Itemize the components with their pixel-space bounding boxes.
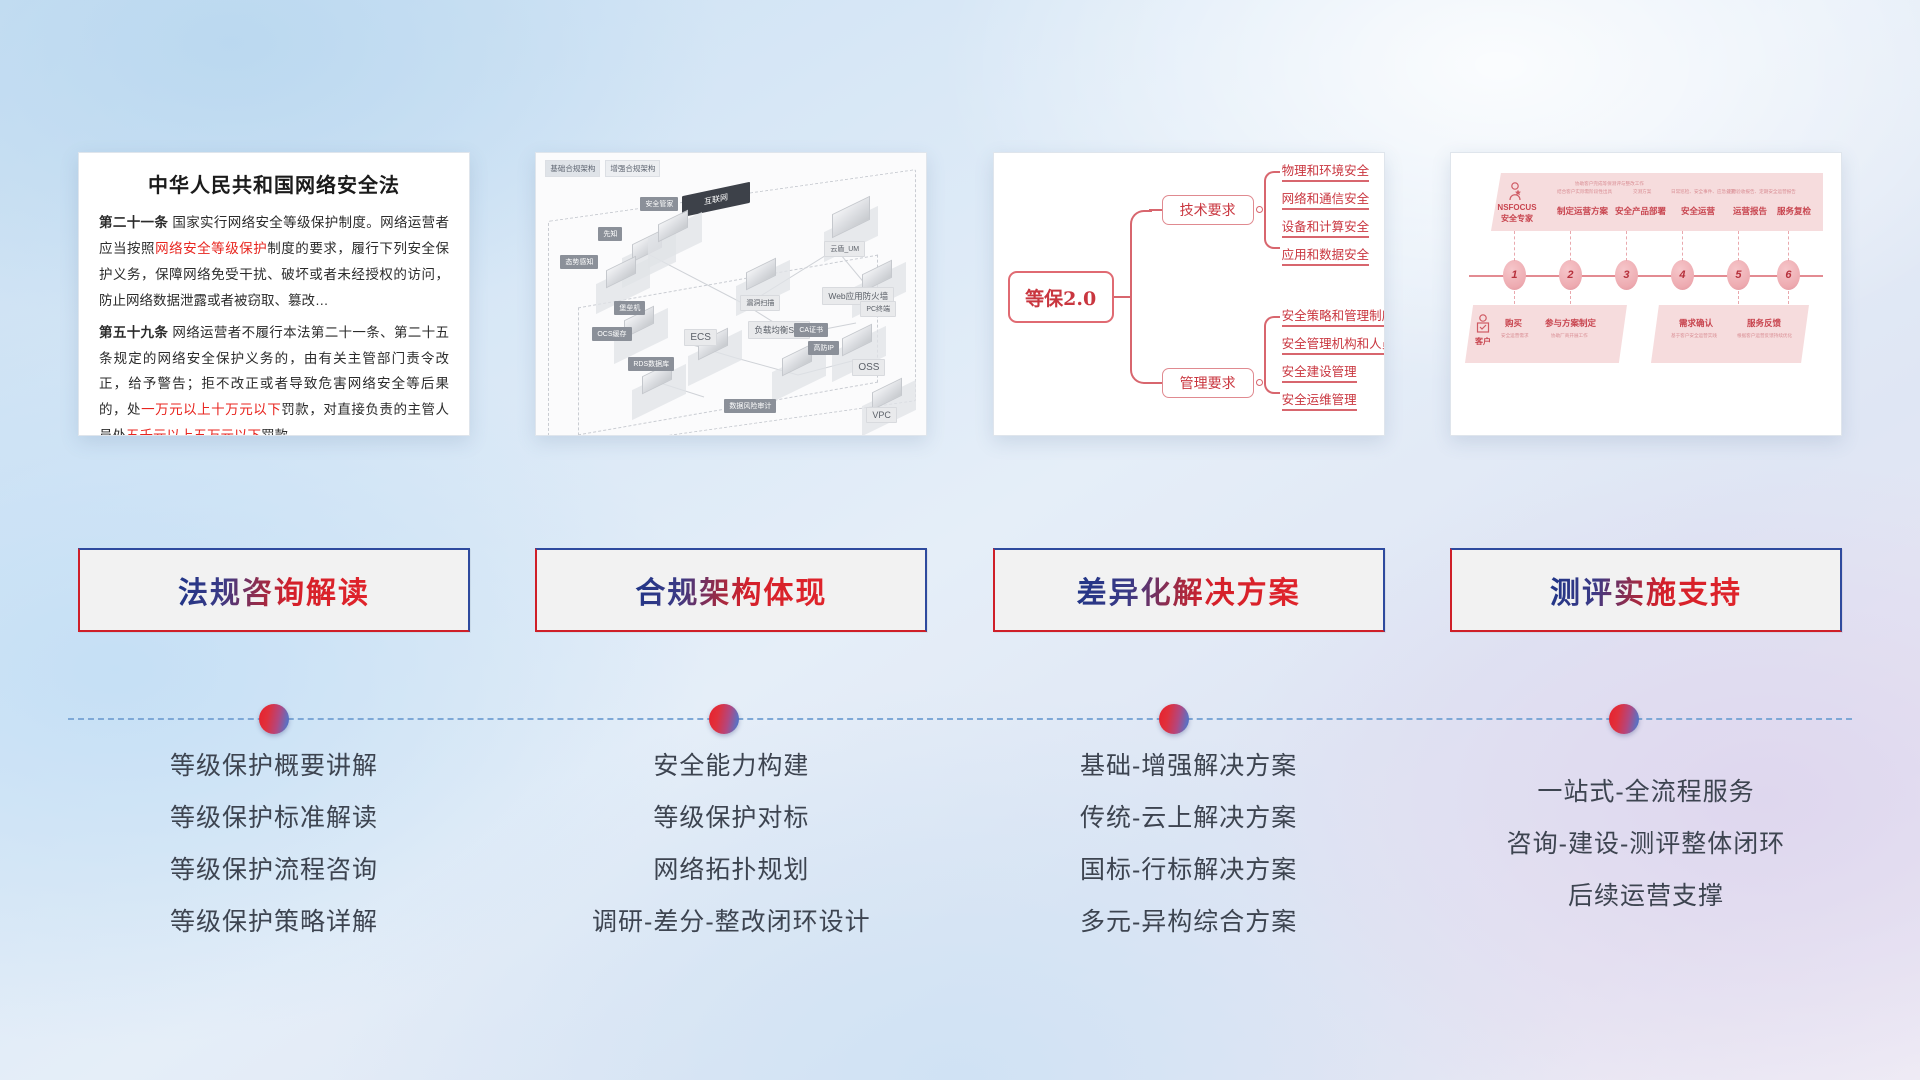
nsfocus-tick-4 xyxy=(1682,231,1683,261)
mindmap-leaf-build: 安全建设管理 xyxy=(1282,366,1357,383)
title-text-compliance-architecture: 合规架构体现 xyxy=(635,568,827,612)
nsfocus-step-5[interactable]: 5 xyxy=(1727,260,1750,290)
architecture-node-audit: 数据风险审计 xyxy=(724,399,776,413)
architecture-node-oss: OSS xyxy=(852,359,885,376)
nsfocus-bottom-label-right-2: 服务反馈 xyxy=(1747,317,1781,329)
list-item: 咨询-建设-测评整体闭环 xyxy=(1450,818,1842,870)
slide-canvas: 中华人民共和国网络安全法 第二十一条 国家实行网络安全等级保护制度。网络运营者应… xyxy=(0,0,1920,1080)
list-item: 传统-云上解决方案 xyxy=(993,792,1385,844)
mindmap-branch-management-curve xyxy=(1264,316,1280,394)
architecture-node-vuln-scan: 漏洞扫描 xyxy=(740,295,780,311)
nsfocus-tick-1 xyxy=(1514,231,1515,261)
nsfocus-brand-sub: 安全专家 xyxy=(1501,214,1533,223)
list-item: 国标-行标解决方案 xyxy=(993,844,1385,896)
timeline-dashed-line xyxy=(68,718,1852,720)
nsfocus-bottom-small-right-2: 根据客户运营反馈持续优化 xyxy=(1737,333,1792,339)
timeline-bead-1[interactable] xyxy=(259,704,289,734)
mindmap-leaf-policy: 安全策略和管理制度 xyxy=(1282,310,1385,327)
nsfocus-top-small-2: 交测方案 xyxy=(1633,189,1651,195)
card-compliance-architecture[interactable]: 基础合规架构 增强合规架构 xyxy=(535,152,927,436)
architecture-node-xianzhi: 先知 xyxy=(598,227,622,241)
architecture-node-security-butler: 安全管家 xyxy=(640,197,678,211)
list-item: 等级保护策略详解 xyxy=(78,896,470,948)
nsfocus-bottom-label-left-2: 参与方案制定 xyxy=(1545,317,1596,329)
architecture-node-yundun-um: 云盾_UM xyxy=(824,241,865,257)
title-box-compliance-architecture[interactable]: 合规架构体现 xyxy=(535,548,927,632)
list-item: 多元-异构综合方案 xyxy=(993,896,1385,948)
expert-person-icon xyxy=(1507,181,1523,201)
nsfocus-tick-2 xyxy=(1570,231,1571,261)
timeline-bead-2[interactable] xyxy=(709,704,739,734)
list-item: 等级保护对标 xyxy=(535,792,927,844)
customer-person-icon xyxy=(1475,313,1491,333)
mindmap-branch-management: 管理要求 xyxy=(1162,368,1254,398)
nsfocus-top-small-3: 日常巡检、安全事件、应急处置 xyxy=(1671,189,1735,195)
title-text-differentiated-solution: 差异化解决方案 xyxy=(1077,568,1301,612)
list-column-regulation-consulting: 等级保护概要讲解 等级保护标准解读 等级保护流程咨询 等级保护策略详解 xyxy=(78,740,470,990)
architecture-node-ca: CA证书 xyxy=(794,323,828,337)
list-item: 基础-增强解决方案 xyxy=(993,740,1385,792)
list-item: 等级保护标准解读 xyxy=(78,792,470,844)
nsfocus-canvas: NSFOCUS 安全专家 结合客户实际需阶段性出具 交测方案 日常巡检、安全事件… xyxy=(1465,165,1827,423)
list-item: 安全能力构建 xyxy=(535,740,927,792)
title-box-differentiated-solution[interactable]: 差异化解决方案 xyxy=(993,548,1385,632)
card-mindmap-dengbao[interactable]: 等保2.0 技术要求 物理和环境安全 网络和通信安全 设备和计算安全 应用和数据… xyxy=(993,152,1385,436)
nsfocus-step-3[interactable]: 3 xyxy=(1615,260,1638,290)
nsfocus-top-small-4: 交付验收报告、定期安全运营报告 xyxy=(1727,189,1796,195)
mindmap-trunk-curve xyxy=(1130,210,1152,384)
mindmap-branch-technical: 技术要求 xyxy=(1162,195,1254,225)
list-item: 调研-差分-整改闭环设计 xyxy=(535,896,927,948)
card-cybersecurity-law[interactable]: 中华人民共和国网络安全法 第二十一条 国家实行网络安全等级保护制度。网络运营者应… xyxy=(78,152,470,436)
nsfocus-bottom-small-right-1: 基于客户安全运营实践 xyxy=(1671,333,1717,339)
law-article-21-highlight: 网络安全等级保护 xyxy=(155,241,267,256)
law-article-59-highlight-1: 一万元以上十万元以下 xyxy=(141,402,281,417)
list-column-evaluation-support: 一站式-全流程服务 咨询-建设-测评整体闭环 后续运营支撑 xyxy=(1450,740,1842,990)
nsfocus-top-small-5: 协助客户完成等保测评与整改工作 xyxy=(1575,181,1644,187)
title-box-regulation-consulting[interactable]: 法规咨询解读 xyxy=(78,548,470,632)
mindmap-trunk-h xyxy=(1114,296,1130,298)
nsfocus-top-label-1: 制定运营方案 xyxy=(1557,205,1608,217)
nsfocus-bottom-label-right-1: 需求确认 xyxy=(1679,317,1713,329)
architecture-node-vpc: VPC xyxy=(866,407,897,423)
nsfocus-bottom-small-left-1: 安全运营需求 xyxy=(1501,333,1529,339)
mindmap-leaf-device: 设备和计算安全 xyxy=(1282,221,1370,238)
architecture-canvas: 互联网 xyxy=(536,153,926,435)
law-article-59-highlight-2: 五千元以上五万元以下 xyxy=(126,428,261,436)
nsfocus-tick-5 xyxy=(1738,231,1739,261)
nsfocus-top-label-4: 运营报告 xyxy=(1733,205,1767,217)
nsfocus-tick-6 xyxy=(1788,231,1789,261)
nsfocus-top-label-2: 安全产品部署 xyxy=(1615,205,1666,217)
nsfocus-tick-3 xyxy=(1626,231,1627,261)
mindmap-branch-technical-dot xyxy=(1256,206,1263,213)
timeline-bead-4[interactable] xyxy=(1609,704,1639,734)
law-article-21-label: 第二十一条 xyxy=(99,215,168,230)
law-title: 中华人民共和国网络安全法 xyxy=(99,169,449,198)
title-text-regulation-consulting: 法规咨询解读 xyxy=(178,568,370,612)
nsfocus-brand: NSFOCUS 安全专家 xyxy=(1489,203,1545,225)
section-titles-row: 法规咨询解读 合规架构体现 差异化解决方案 测评实施支持 xyxy=(0,548,1920,632)
law-article-59-text-c: 罚款。 xyxy=(261,428,302,436)
law-article-21: 第二十一条 国家实行网络安全等级保护制度。网络运营者应当按照网络安全等级保护制度… xyxy=(99,210,449,314)
list-column-compliance-architecture: 安全能力构建 等级保护对标 网络拓扑规划 调研-差分-整改闭环设计 xyxy=(535,740,927,990)
mindmap-trunk-to-mgmt xyxy=(1149,382,1163,384)
list-column-differentiated-solution: 基础-增强解决方案 传统-云上解决方案 国标-行标解决方案 多元-异构综合方案 xyxy=(993,740,1385,990)
architecture-node-bastion: 堡垒机 xyxy=(614,301,645,315)
architecture-node-ecs: ECS xyxy=(684,329,717,346)
mindmap-branch-management-dot xyxy=(1256,379,1263,386)
mindmap-leaf-ops: 安全运维管理 xyxy=(1282,394,1357,411)
mindmap-leaf-org: 安全管理机构和人员 xyxy=(1282,338,1385,355)
card-nsfocus-timeline[interactable]: NSFOCUS 安全专家 结合客户实际需阶段性出具 交测方案 日常巡检、安全事件… xyxy=(1450,152,1842,436)
nsfocus-bottom-small-left-2: 协助厂商开展工作 xyxy=(1551,333,1588,339)
list-item: 等级保护流程咨询 xyxy=(78,844,470,896)
nsfocus-step-6[interactable]: 6 xyxy=(1777,260,1800,290)
architecture-node-pc-terminal: PC终端 xyxy=(860,301,896,317)
list-item: 等级保护概要讲解 xyxy=(78,740,470,792)
list-item: 后续运营支撑 xyxy=(1450,870,1842,922)
title-box-evaluation-support[interactable]: 测评实施支持 xyxy=(1450,548,1842,632)
architecture-node-rds: RDS数据库 xyxy=(628,357,674,371)
list-item: 一站式-全流程服务 xyxy=(1450,766,1842,818)
mindmap-root: 等保2.0 xyxy=(1008,271,1114,323)
architecture-node-antiddos: 高防IP xyxy=(808,341,839,355)
nsfocus-step-4[interactable]: 4 xyxy=(1671,260,1694,290)
architecture-node-situation: 态势感知 xyxy=(560,255,598,269)
nsfocus-top-label-3: 安全运营 xyxy=(1681,205,1715,217)
nsfocus-top-label-5: 服务复检 xyxy=(1777,205,1811,217)
timeline-bead-3[interactable] xyxy=(1159,704,1189,734)
mindmap-leaf-physical: 物理和环境安全 xyxy=(1282,165,1370,182)
list-item: 网络拓扑规划 xyxy=(535,844,927,896)
title-text-evaluation-support: 测评实施支持 xyxy=(1550,568,1742,612)
progress-timeline xyxy=(0,696,1920,742)
media-cards-row: 中华人民共和国网络安全法 第二十一条 国家实行网络安全等级保护制度。网络运营者应… xyxy=(0,152,1920,448)
mindmap-trunk-to-tech xyxy=(1149,209,1163,211)
mindmap-leaf-network: 网络和通信安全 xyxy=(1282,193,1370,210)
nsfocus-customer-label: 客户 xyxy=(1471,337,1495,348)
law-article-59-label: 第五十九条 xyxy=(99,325,168,340)
nsfocus-bottom-label-left-1: 购买 xyxy=(1505,317,1522,329)
law-article-59: 第五十九条 网络运营者不履行本法第二十一条、第二十五条规定的网络安全保护义务的，… xyxy=(99,320,449,436)
nsfocus-top-small-1: 结合客户实际需阶段性出具 xyxy=(1557,189,1612,195)
nsfocus-step-2[interactable]: 2 xyxy=(1559,260,1582,290)
mindmap-branch-technical-curve xyxy=(1264,171,1280,249)
architecture-node-ocs: OCS缓存 xyxy=(592,327,631,341)
mindmap-leaf-app-data: 应用和数据安全 xyxy=(1282,249,1370,266)
nsfocus-brand-name: NSFOCUS xyxy=(1497,203,1536,212)
detail-lists-row: 等级保护概要讲解 等级保护标准解读 等级保护流程咨询 等级保护策略详解 安全能力… xyxy=(0,740,1920,990)
nsfocus-step-1[interactable]: 1 xyxy=(1503,260,1526,290)
